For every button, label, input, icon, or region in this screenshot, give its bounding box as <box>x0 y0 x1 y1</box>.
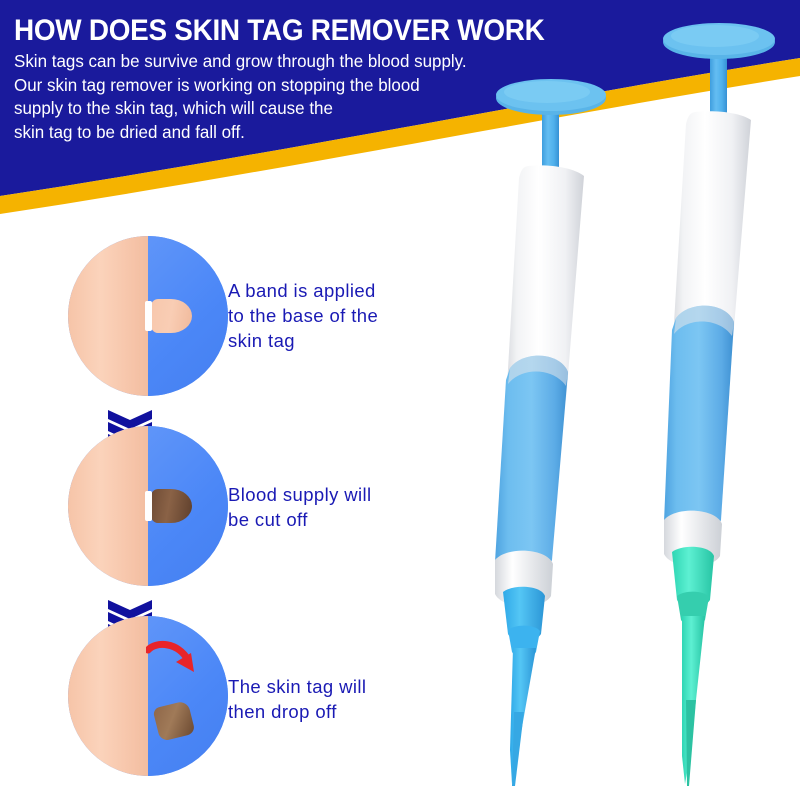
step-3-illustration <box>68 616 228 776</box>
skin-cross-section <box>68 426 228 586</box>
step-1-line-2: to the base of the <box>228 303 428 328</box>
skin-cross-section <box>68 236 228 396</box>
header-line-4: skin tag to be dried and fall off. <box>14 121 641 145</box>
header-description: Skin tags can be survive and grow throug… <box>14 50 641 144</box>
step-1-line-3: skin tag <box>228 328 428 353</box>
step-2-label: Blood supply will be cut off <box>228 482 428 532</box>
step-2-line-2: be cut off <box>228 507 428 532</box>
header-line-2: Our skin tag remover is working on stopp… <box>14 74 641 98</box>
blue-tip-device <box>495 79 606 786</box>
infographic-root: HOW DOES SKIN TAG REMOVER WORK Skin tags… <box>0 0 800 800</box>
step-2-illustration <box>68 426 228 586</box>
step-3-line-1: The skin tag will <box>228 674 428 699</box>
header-line-1: Skin tags can be survive and grow throug… <box>14 50 641 74</box>
skin-tag-necrotic <box>150 489 192 523</box>
removal-band <box>145 301 152 331</box>
skin-layer <box>68 236 148 396</box>
page-title: HOW DOES SKIN TAG REMOVER WORK <box>14 14 615 48</box>
removal-band <box>145 491 152 521</box>
list-item: The skin tag will then drop off <box>0 616 430 776</box>
step-1-label: A band is applied to the base of the ski… <box>228 278 428 353</box>
skin-layer <box>68 426 148 586</box>
step-3-line-2: then drop off <box>228 699 428 724</box>
step-1-line-1: A band is applied <box>228 278 428 303</box>
skin-cross-section <box>68 616 228 776</box>
header-text-block: HOW DOES SKIN TAG REMOVER WORK Skin tags… <box>0 0 660 165</box>
skin-tag <box>150 299 192 333</box>
step-3-label: The skin tag will then drop off <box>228 674 428 724</box>
step-2-line-1: Blood supply will <box>228 482 428 507</box>
teal-tip-device <box>663 23 775 786</box>
skin-layer <box>68 616 148 776</box>
list-item: Blood supply will be cut off <box>0 426 430 586</box>
step-1-illustration <box>68 236 228 396</box>
curved-arrow-icon <box>146 640 202 690</box>
list-item: A band is applied to the base of the ski… <box>0 236 430 396</box>
header-line-3: supply to the skin tag, which will cause… <box>14 97 641 121</box>
steps-list: A band is applied to the base of the ski… <box>0 236 430 796</box>
